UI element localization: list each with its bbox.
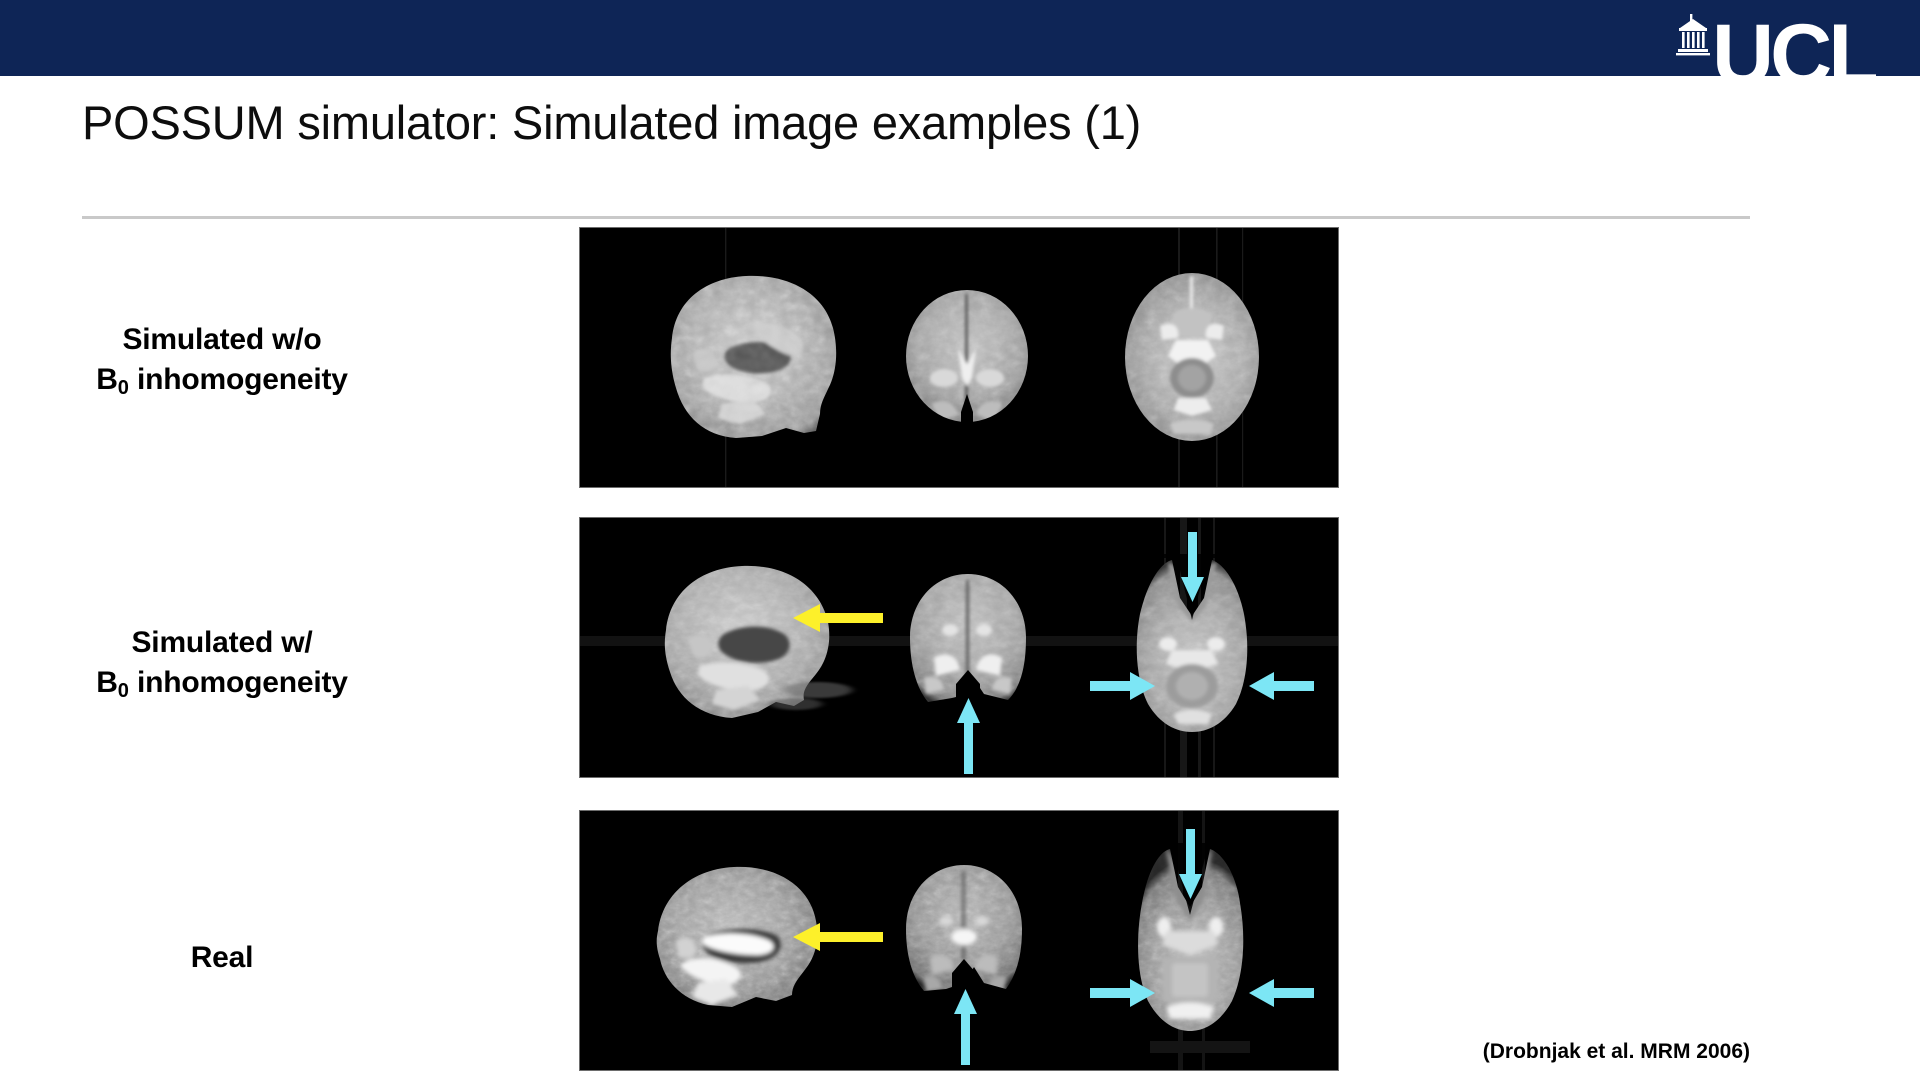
b0-subscript: 0 bbox=[118, 680, 129, 702]
ucl-logo: UCL bbox=[1676, 6, 1876, 90]
row-label-line-1: Simulated w/ bbox=[12, 623, 432, 663]
b0-subscript: 0 bbox=[118, 377, 129, 399]
row-label-simulated-with-b0: Simulated w/ B0 inhomogeneity bbox=[12, 623, 432, 702]
row-label-line-2: B0 inhomogeneity bbox=[12, 663, 432, 703]
ucl-portico-icon bbox=[1676, 14, 1710, 55]
page-title: POSSUM simulator: Simulated image exampl… bbox=[82, 95, 1382, 150]
row-label-simulated-without-b0: Simulated w/o B0 inhomogeneity bbox=[12, 320, 432, 399]
ucl-wordmark: UCL bbox=[1712, 7, 1876, 90]
mri-panel-simulated-without-b0 bbox=[580, 228, 1338, 487]
mri-panel-simulated-with-b0 bbox=[580, 518, 1338, 777]
citation-text: (Drobnjak et al. MRM 2006) bbox=[1483, 1040, 1750, 1064]
header-band bbox=[0, 0, 1920, 76]
row-label-line-1: Simulated w/o bbox=[12, 320, 432, 360]
row-label-line-2: B0 inhomogeneity bbox=[12, 360, 432, 400]
mri-panel-real bbox=[580, 811, 1338, 1070]
title-divider bbox=[82, 216, 1750, 219]
row-label-line-1: Real bbox=[12, 938, 432, 978]
row-label-real: Real bbox=[12, 938, 432, 978]
